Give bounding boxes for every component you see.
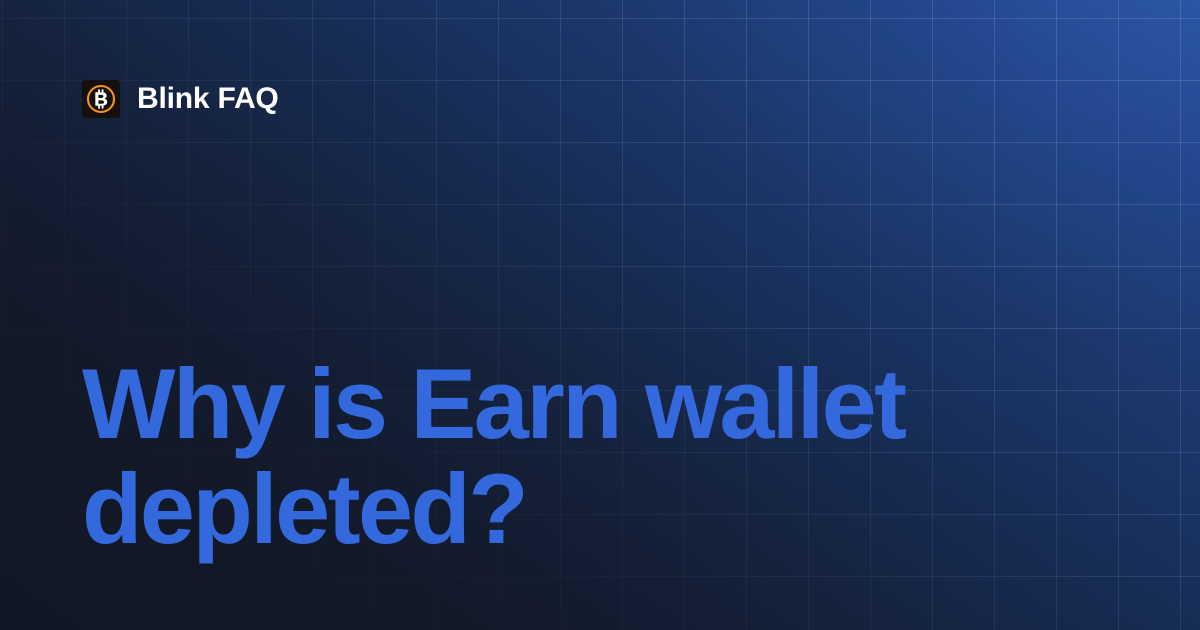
page-title: Why is Earn wallet depleted? [82, 352, 962, 562]
brand-name: Blink FAQ [137, 84, 279, 114]
brand-lockup: Blink FAQ [82, 80, 279, 118]
bitcoin-icon [82, 80, 120, 118]
og-share-card: Blink FAQ Why is Earn wallet depleted? [0, 0, 1200, 630]
